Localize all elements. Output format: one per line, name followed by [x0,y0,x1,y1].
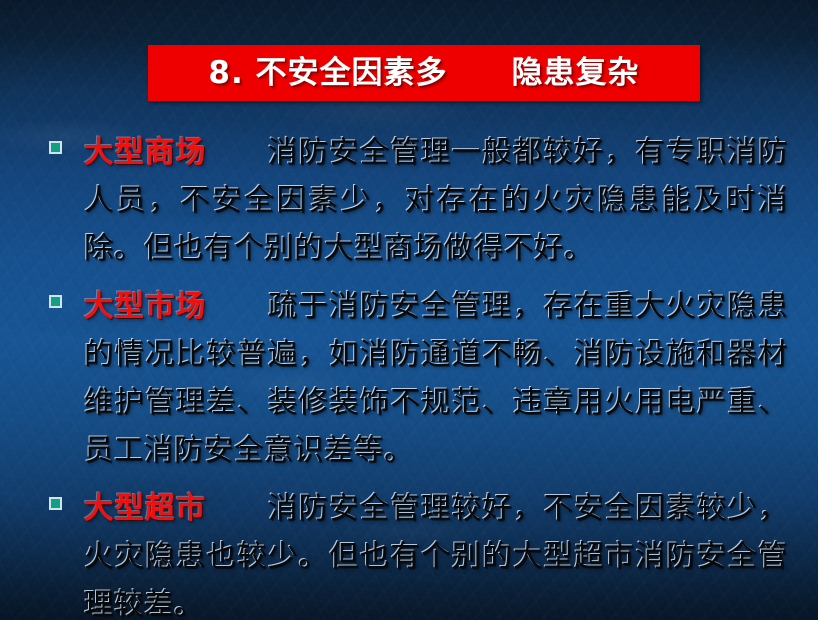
paragraph-gap [207,289,268,323]
paragraph-label: 大型超市 [84,491,207,525]
title-banner: 8. 不安全因素多 隐患复杂 [148,45,700,101]
square-bullet-icon [49,295,62,308]
paragraph-text: 大型商场 消防安全管理一般都较好，有专职消防人员，不安全因素少，对存在的火灾隐患… [84,128,788,272]
paragraph-label: 大型市场 [84,289,207,323]
list-item: 大型市场 疏于消防安全管理，存在重大火灾隐患的情况比较普遍，如消防通道不畅、消防… [44,282,788,474]
paragraph-gap [207,491,268,525]
slide-title: 8. 不安全因素多 隐患复杂 [208,58,639,89]
paragraph-text: 大型超市 消防安全管理较好，不安全因素较少，火灾隐患也较少。但也有个别的大型超市… [84,484,788,620]
list-item: 大型超市 消防安全管理较好，不安全因素较少，火灾隐患也较少。但也有个别的大型超市… [44,484,788,620]
paragraph-label: 大型商场 [84,135,207,169]
square-bullet-icon [49,497,62,510]
square-bullet-icon [49,141,62,154]
paragraph-gap [207,135,268,169]
bullet-list: 大型商场 消防安全管理一般都较好，有专职消防人员，不安全因素少，对存在的火灾隐患… [44,128,788,620]
slide-canvas: 8. 不安全因素多 隐患复杂 大型商场 消防安全管理一般都较好，有专职消防人员，… [0,0,818,620]
paragraph-text: 大型市场 疏于消防安全管理，存在重大火灾隐患的情况比较普遍，如消防通道不畅、消防… [84,282,788,474]
list-item: 大型商场 消防安全管理一般都较好，有专职消防人员，不安全因素少，对存在的火灾隐患… [44,128,788,272]
